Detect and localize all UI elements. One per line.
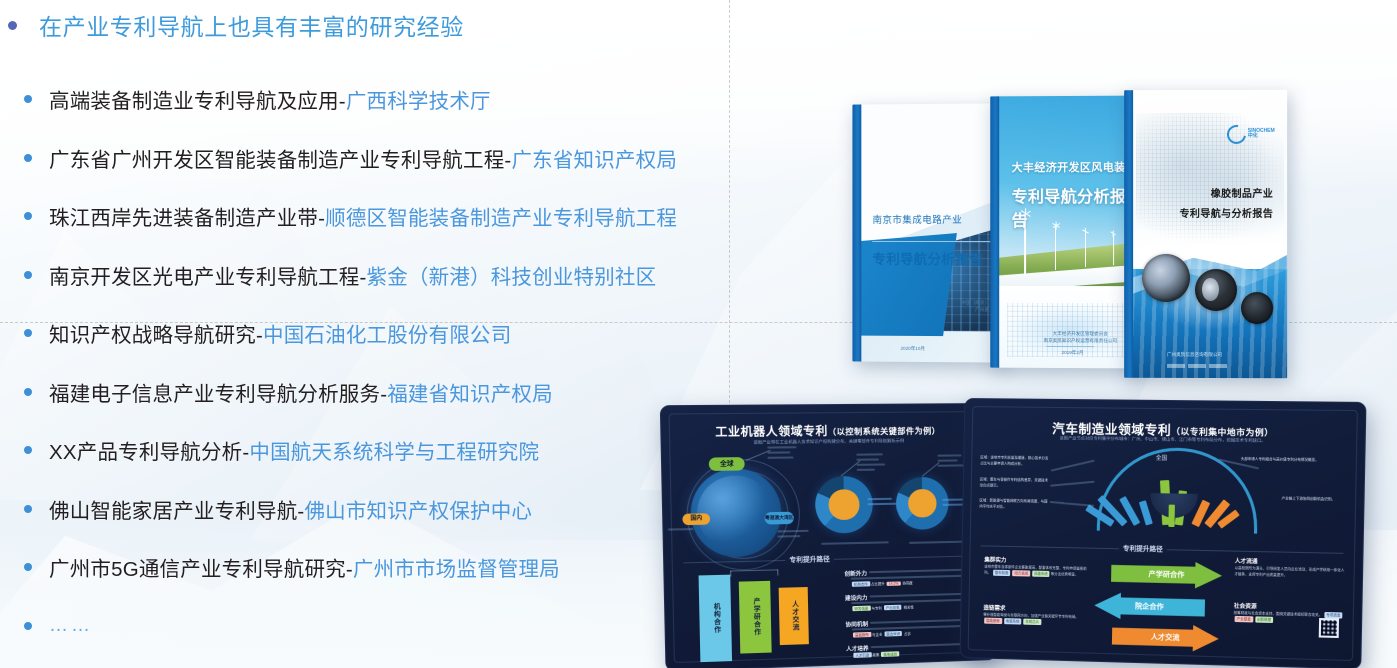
bullet-dot-icon bbox=[24, 154, 32, 162]
cover-title-line2: 专利导航分析报告 bbox=[1012, 183, 1139, 231]
automotive-patent-panel: 汽车制造业领域专利（以专利集中地市为例） 该图产业节点对应专利集中分布城市：广州… bbox=[960, 398, 1367, 668]
cover-publisher: 大丰经济开发区管理委员会 南京奥凯知识产权运营有限责任公司 bbox=[1043, 330, 1117, 345]
cover-publisher: 广州奥凯信息咨询有限公司 bbox=[1167, 352, 1222, 358]
slide-title: 在产业专利导航上也具有丰富的研究经验 bbox=[8, 8, 464, 42]
slide-title-text: 在产业专利导航上也具有丰富的研究经验 bbox=[39, 8, 464, 42]
book-spine bbox=[852, 104, 861, 361]
cover-date: 2020年10月 bbox=[901, 346, 925, 352]
node-label-greater-bay-area: 粤港澳大湾区 bbox=[765, 512, 794, 525]
book-spine bbox=[990, 96, 999, 367]
panel-section-label: 专利提升路径 bbox=[785, 553, 834, 564]
list-item-label: 福建电子信息产业专利导航分析服务-福建省知识产权局 bbox=[49, 377, 553, 407]
funnel-bar-3: 人才交流 bbox=[779, 587, 809, 645]
list-item-label: 珠江西岸先进装备制造产业带-顺德区智能装备制造产业专利导航工程 bbox=[49, 201, 677, 231]
bullet-dot-icon bbox=[24, 95, 32, 103]
node-label-global: 全球 bbox=[709, 457, 745, 471]
bullet-dot-icon bbox=[24, 622, 32, 630]
list-item: 佛山智能家居产业专利导航-佛山市知识产权保护中心 bbox=[22, 494, 677, 524]
book-spine bbox=[1124, 90, 1133, 378]
list-item: XX产品专利导航分析-中国航天系统科学与工程研究院 bbox=[22, 435, 677, 465]
cover-title-line2: 专利导航分析报告 bbox=[873, 248, 983, 268]
list-item-label: 佛山智能家居产业专利导航-佛山市知识产权保护中心 bbox=[49, 494, 532, 524]
list-item-label: XX产品专利导航分析-中国航天系统科学与工程研究院 bbox=[49, 435, 539, 465]
tyre-photo-icon bbox=[1241, 292, 1273, 324]
cover-title-line1: 橡胶制品产业 bbox=[1211, 185, 1273, 200]
bullet-dot-icon bbox=[24, 271, 32, 279]
qr-code-icon bbox=[1320, 620, 1336, 636]
title-bullet-icon bbox=[8, 21, 17, 30]
funnel-bar-2: 产学研合作 bbox=[739, 581, 772, 654]
slide-canvas: 在产业专利导航上也具有丰富的研究经验 高端装备制造业专利导航及应用-广西科学技术… bbox=[0, 0, 1397, 668]
list-item: 高端装备制造业专利导航及应用-广西科学技术厅 bbox=[22, 84, 677, 114]
industrial-robot-patent-panel: 工业机器人领域专利（以控制系统关键部件为例） 该图产业带在工业机器人技术知识产权… bbox=[660, 403, 997, 668]
list-item: 知识产权战略导航研究-中国石油化工股份有限公司 bbox=[22, 318, 677, 348]
list-item: 珠江西岸先进装备制造产业带-顺德区智能装备制造产业专利导航工程 bbox=[22, 201, 677, 231]
cover-title-line1: 南京市集成电路产业 bbox=[873, 212, 963, 226]
report-cover-nanjing-ic: 南京市集成电路产业 专利导航分析报告 中国（南京）… 广州奥… 2020年10月 bbox=[852, 103, 1002, 362]
bullet-dot-icon bbox=[24, 212, 32, 220]
list-item-label: 知识产权战略导航研究-中国石油化工股份有限公司 bbox=[49, 318, 511, 348]
list-item: 福建电子信息产业专利导航分析服务-福建省知识产权局 bbox=[22, 377, 677, 407]
node-label-domestic: 国内 bbox=[682, 513, 710, 525]
cover-title-line2: 专利导航与分析报告 bbox=[1180, 205, 1274, 220]
funnel-bar-1: 机构合作 bbox=[699, 575, 733, 663]
report-cover-group: 南京市集成电路产业 专利导航分析报告 中国（南京）… 广州奥… 2020年10月 bbox=[846, 86, 1316, 386]
list-item-label: 高端装备制造业专利导航及应用-广西科学技术厅 bbox=[49, 84, 491, 114]
bullet-dot-icon bbox=[24, 388, 32, 396]
list-item-label: 广州市5G通信产业专利导航研究-广州市市场监督管理局 bbox=[49, 552, 560, 582]
bullet-dot-icon bbox=[24, 563, 32, 571]
bullet-dot-icon bbox=[24, 446, 32, 454]
cover-date: 2019年2月 bbox=[1062, 350, 1084, 356]
report-cover-dafeng-wind: 大丰经济开发区风电装备 专利导航分析报告 大丰经济开发区管理委员会 南京奥凯知识… bbox=[990, 96, 1138, 369]
panel-section-label: 专利提升路径 bbox=[1119, 542, 1167, 553]
project-list: 高端装备制造业专利导航及应用-广西科学技术厅 广东省广州开发区智能装备制造产业专… bbox=[22, 84, 677, 668]
list-item: 广东省广州开发区智能装备制造产业专利导航工程-广东省知识产权局 bbox=[22, 143, 677, 173]
sinochem-logo-icon: SINOCHEM 中化 bbox=[1227, 124, 1275, 143]
list-item-label: 南京开发区光电产业专利导航工程-紫金（新港）科技创业特别社区 bbox=[49, 260, 656, 290]
tyre-photo-icon bbox=[1195, 269, 1237, 311]
cover-title-line1: 大丰经济开发区风电装备 bbox=[1012, 158, 1137, 174]
bullet-dot-icon bbox=[24, 329, 32, 337]
list-item: 南京开发区光电产业专利导航工程-紫金（新港）科技创业特别社区 bbox=[22, 260, 677, 290]
report-cover-rubber-products: SINOCHEM 中化 橡胶制品产业 专利导航与分析报告 广州奥凯信息咨询有限公… bbox=[1124, 90, 1287, 378]
list-item-label: 广东省广州开发区智能装备制造产业专利导航工程-广东省知识产权局 bbox=[49, 143, 677, 173]
cover-publisher: 中国（南京）… 广州奥… bbox=[961, 300, 993, 314]
ellipsis-label: …… bbox=[49, 615, 93, 637]
list-item: 广州市5G通信产业专利导航研究-广州市市场监督管理局 bbox=[22, 552, 677, 582]
list-item-ellipsis: …… bbox=[22, 611, 677, 641]
bullet-dot-icon bbox=[24, 505, 32, 513]
